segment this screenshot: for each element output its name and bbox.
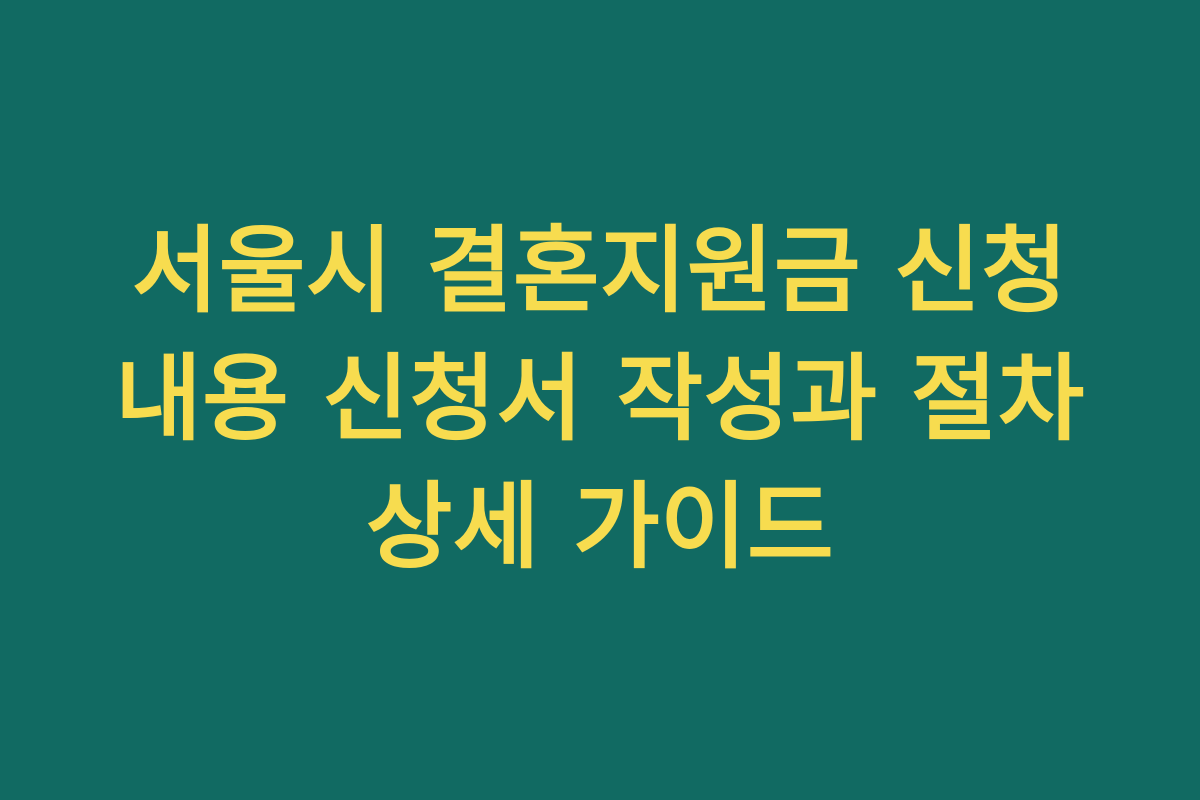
- title-line-3: 상세 가이드: [50, 464, 1150, 592]
- page-title: 서울시 결혼지원금 신청 내용 신청서 작성과 절차 상세 가이드: [50, 208, 1150, 592]
- banner-card: 서울시 결혼지원금 신청 내용 신청서 작성과 절차 상세 가이드: [0, 0, 1200, 800]
- title-line-1: 서울시 결혼지원금 신청: [50, 208, 1150, 336]
- title-line-2: 내용 신청서 작성과 절차: [50, 336, 1150, 464]
